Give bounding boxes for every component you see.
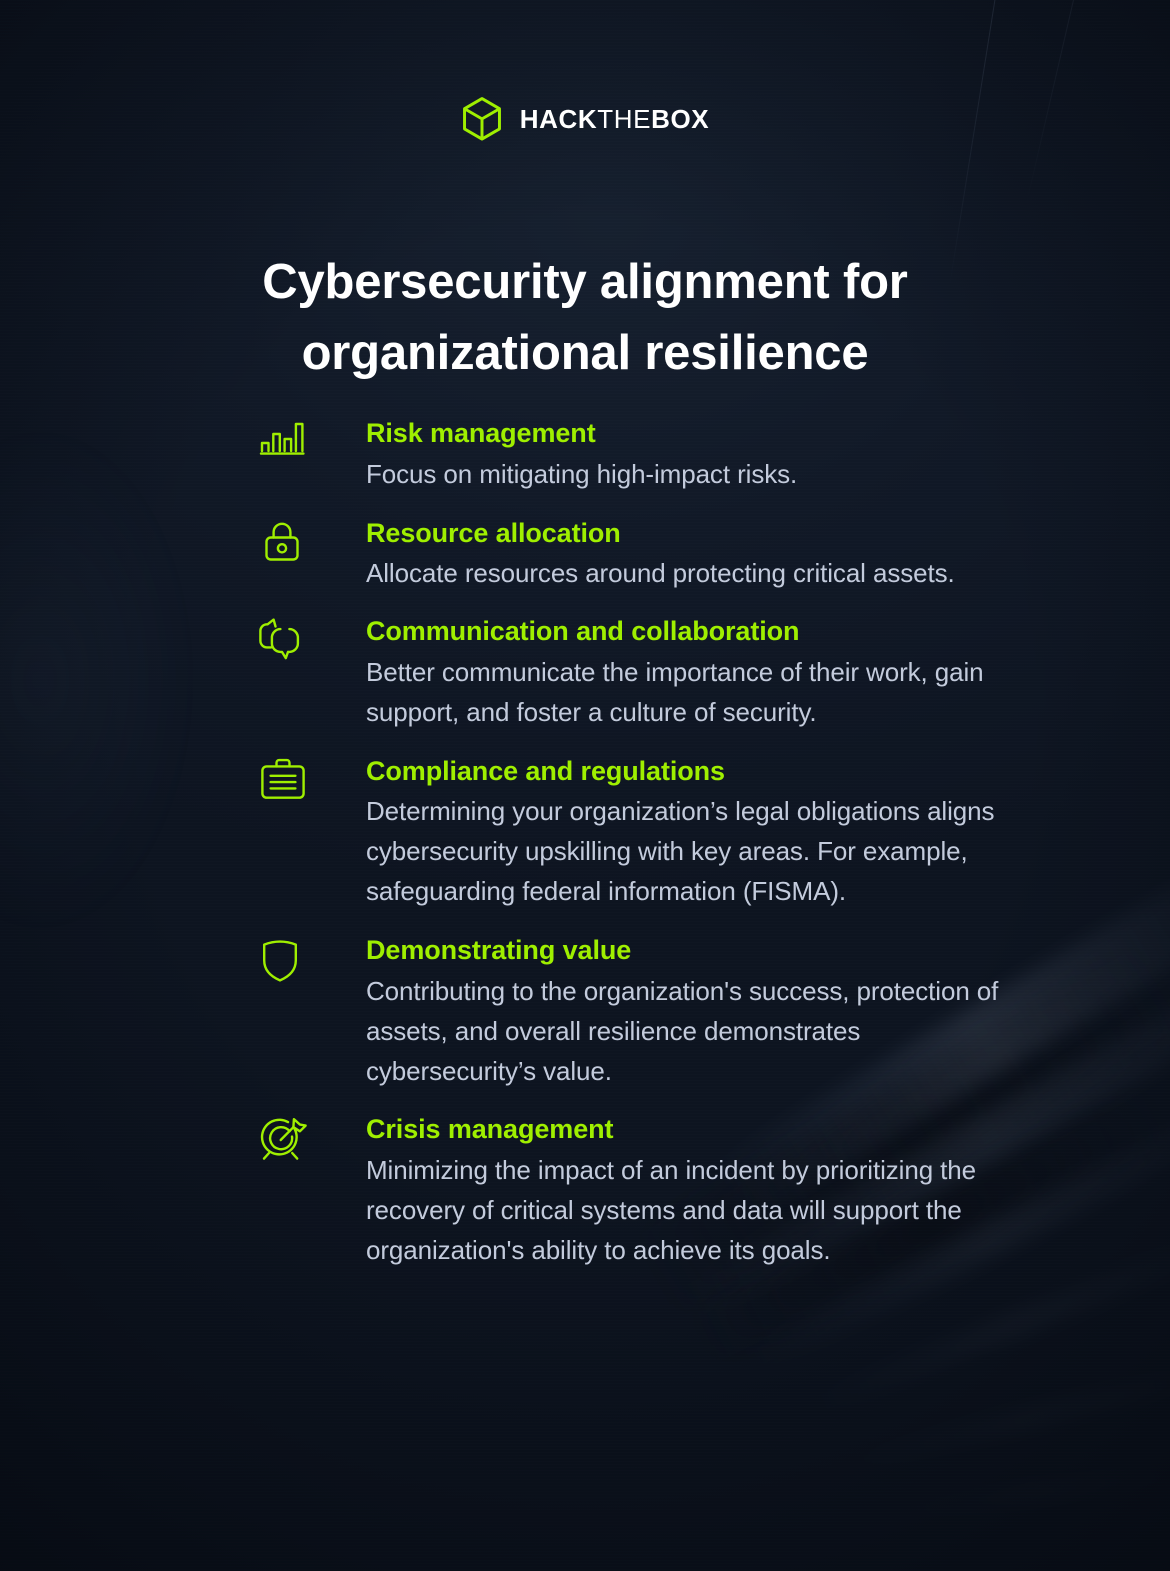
list-item-text: Demonstrating value Contributing to the … [366,933,1018,1091]
list-item-icon [258,933,366,983]
list-item-title: Resource allocation [366,516,1018,551]
padlock-icon [258,518,306,566]
list-item-description: Better communicate the importance of the… [366,652,1018,732]
points-list: Risk management Focus on mitigating high… [258,416,1018,1270]
list-item-title: Crisis management [366,1112,1018,1147]
list-item: Crisis management Minimizing the impact … [258,1112,1018,1270]
list-item-title: Communication and collaboration [366,614,1018,649]
list-item-icon [258,516,366,566]
list-item-text: Crisis management Minimizing the impact … [366,1112,1018,1270]
infographic-poster: HACKTHEBOX Cybersecurity alignment for o… [0,0,1170,1571]
list-item-icon [258,614,366,662]
list-item: Risk management Focus on mitigating high… [258,416,1018,494]
brand-word-the: THE [597,104,651,134]
list-item-title: Demonstrating value [366,933,1018,968]
page-title: Cybersecurity alignment for organization… [0,247,1170,390]
list-item: Resource allocation Allocate resources a… [258,516,1018,594]
list-item: Communication and collaboration Better c… [258,614,1018,732]
brand-logo: HACKTHEBOX [0,96,1170,142]
list-item-text: Compliance and regulations Determining y… [366,754,1018,912]
list-item-description: Allocate resources around protecting cri… [366,553,1018,593]
speech-bubbles-icon [258,616,310,662]
list-item: Demonstrating value Contributing to the … [258,933,1018,1091]
brand-word-box: BOX [651,104,709,134]
list-item-title: Compliance and regulations [366,754,1018,789]
shield-icon [258,935,302,983]
list-item-description: Contributing to the organization's succe… [366,971,1018,1091]
list-item-text: Communication and collaboration Better c… [366,614,1018,732]
list-item-icon [258,754,366,802]
bar-chart-icon [258,418,306,462]
list-item-description: Focus on mitigating high-impact risks. [366,454,1018,494]
list-item-text: Resource allocation Allocate resources a… [366,516,1018,594]
list-item-description: Determining your organization’s legal ob… [366,791,1018,911]
brand-word-hack: HACK [520,104,598,134]
htb-cube-icon [461,96,503,142]
list-item: Compliance and regulations Determining y… [258,754,1018,912]
brand-wordmark: HACKTHEBOX [520,106,709,132]
list-item-icon [258,416,366,462]
target-arrow-icon [258,1114,310,1164]
list-item-icon [258,1112,366,1164]
briefcase-icon [258,756,308,802]
list-item-description: Minimizing the impact of an incident by … [366,1150,1018,1270]
list-item-title: Risk management [366,416,1018,451]
list-item-text: Risk management Focus on mitigating high… [366,416,1018,494]
